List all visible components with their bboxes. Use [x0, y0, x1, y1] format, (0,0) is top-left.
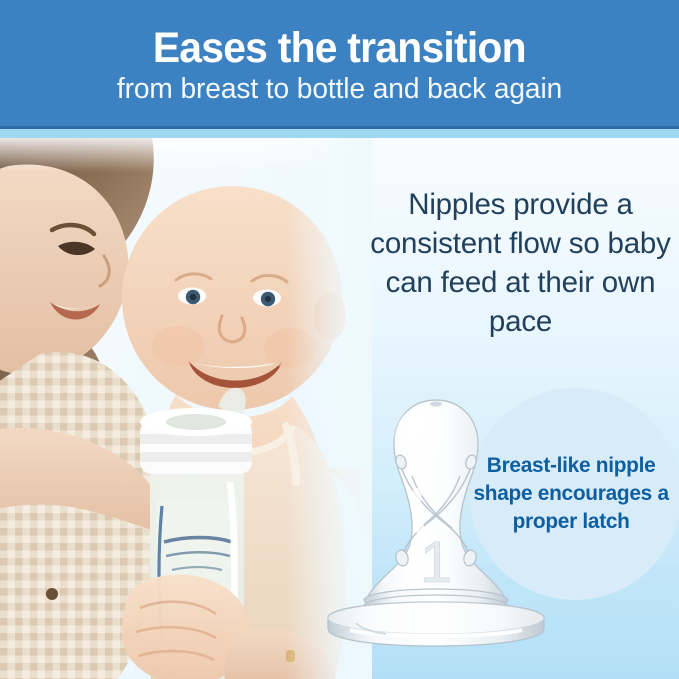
- header-accent-strip: [0, 129, 679, 138]
- feature-description: Nipples provide a consistent flow so bab…: [362, 186, 679, 342]
- marketing-image: Eases the transition from breast to bott…: [0, 0, 679, 679]
- header-banner: Eases the transition from breast to bott…: [0, 0, 679, 128]
- product-nipple-image: 1: [300, 392, 572, 654]
- page-title: Eases the transition: [153, 26, 526, 71]
- nipple-illustration: 1: [300, 392, 572, 654]
- page-subtitle: from breast to bottle and back again: [117, 74, 562, 106]
- flow-level-numeral: 1: [420, 530, 452, 595]
